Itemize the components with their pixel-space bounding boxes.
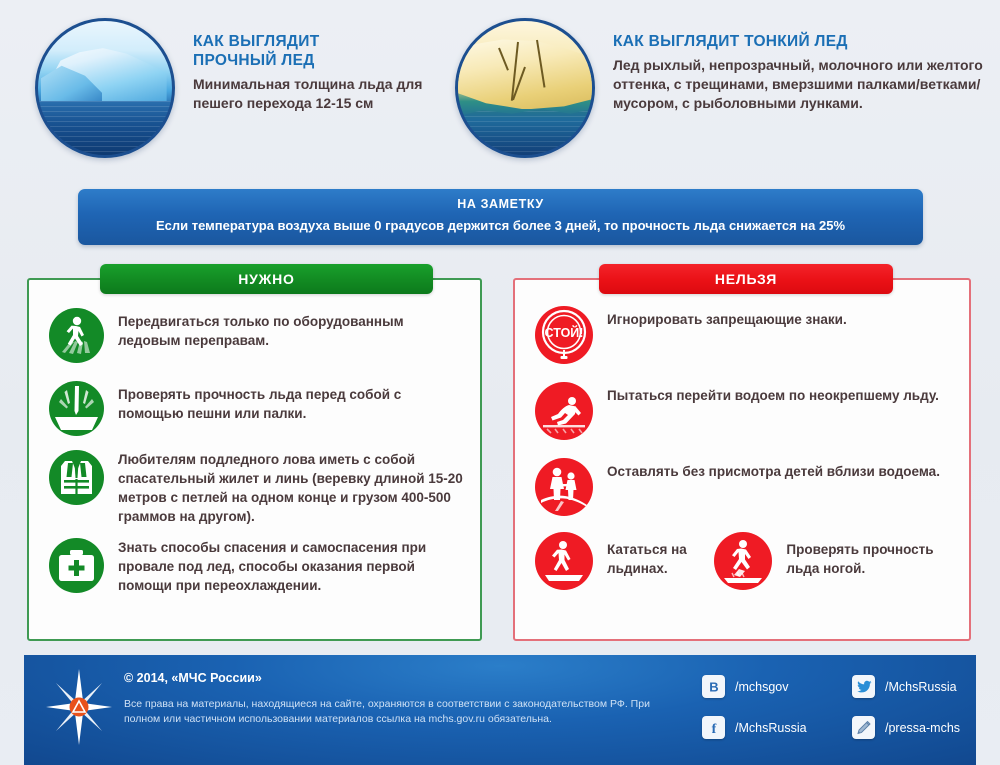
strong-ice-text: КАК ВЫГЛЯДИТ ПРОЧНЫЙ ЛЕД Минимальная тол…: [175, 18, 435, 113]
dont-item-1-text: Игнорировать запрещающие знаки.: [593, 306, 847, 329]
note-body-part2: , то прочность льда снижается на: [597, 218, 819, 233]
social-label-vk: /mchsgov: [725, 680, 789, 694]
do-item-1: Передвигаться только по оборудованным ле…: [49, 308, 466, 363]
do-item-2-text: Проверять прочность льда перед собой с п…: [104, 381, 466, 423]
dont-items-list: СТОЙ! Игнорировать запрещающие знаки.: [515, 280, 969, 590]
social-label-twitter: /MchsRussia: [875, 680, 957, 694]
social-link-facebook[interactable]: f /MchsRussia: [702, 716, 852, 739]
thin-ice-orb: [455, 18, 595, 158]
footer-copyright: © 2014, «МЧС России»: [124, 671, 664, 685]
strong-ice-description: Минимальная толщина льда для пешего пере…: [193, 75, 435, 113]
do-pill-label: НУЖНО: [100, 264, 433, 294]
social-link-vk[interactable]: B /mchsgov: [702, 675, 852, 698]
mchs-star-emblem: [44, 667, 114, 747]
note-body-bold2: 25%: [819, 218, 845, 233]
note-banner: НА ЗАМЕТКУ Если температура воздуха выше…: [78, 189, 923, 245]
note-body-part1: Если температура воздуха выше 0 градусов…: [156, 218, 513, 233]
dont-dual-item-2: Проверять прочность льда ногой.: [714, 532, 955, 590]
thin-ice-card: КАК ВЫГЛЯДИТ ТОНКИЙ ЛЕД Лед рыхлый, непр…: [455, 18, 985, 158]
first-aid-kit-icon: [49, 538, 104, 593]
dont-pill-label: НЕЛЬЗЯ: [599, 264, 893, 294]
dont-item-3-text: Оставлять без присмотра детей вблизи вод…: [593, 458, 940, 481]
ice-pick-icon: [49, 381, 104, 436]
do-item-4: Знать способы спасения и самоспасения пр…: [49, 538, 466, 595]
thin-ice-title: КАК ВЫГЛЯДИТ ТОНКИЙ ЛЕД: [613, 32, 985, 51]
stop-sign-icon: СТОЙ!: [535, 306, 593, 364]
thin-ice-text: КАК ВЫГЛЯДИТ ТОНКИЙ ЛЕД Лед рыхлый, непр…: [595, 18, 985, 113]
note-title: НА ЗАМЕТКУ: [78, 197, 923, 211]
note-body: Если температура воздуха выше 0 градусов…: [78, 217, 923, 234]
social-link-pressa[interactable]: /pressa-mchs: [852, 716, 976, 739]
dont-dual-item-2-text: Проверять прочность льда ногой.: [772, 532, 955, 578]
footer-text-block: © 2014, «МЧС России» Все права на матери…: [124, 671, 664, 727]
social-link-twitter[interactable]: /MchsRussia: [852, 675, 976, 698]
dont-panel: СТОЙ! Игнорировать запрещающие знаки.: [513, 278, 971, 641]
strong-ice-title-line2: ПРОЧНЫЙ ЛЕД: [193, 51, 435, 70]
dont-item-3: Оставлять без присмотра детей вблизи вод…: [535, 458, 955, 516]
thin-ice-description: Лед рыхлый, непрозрачный, молочного или …: [613, 56, 985, 113]
thin-ice-title-line1: КАК ВЫГЛЯДИТ ТОНКИЙ ЛЕД: [613, 32, 985, 51]
dont-dual-item-1-text: Кататься на льдинах.: [593, 532, 714, 578]
pencil-icon: [852, 716, 875, 739]
do-item-2: Проверять прочность льда перед собой с п…: [49, 381, 466, 436]
vk-icon: B: [702, 675, 725, 698]
do-item-1-text: Передвигаться только по оборудованным ле…: [104, 308, 466, 350]
footer: © 2014, «МЧС России» Все права на матери…: [24, 655, 976, 765]
do-items-list: Передвигаться только по оборудованным ле…: [29, 280, 480, 595]
person-falling-through-ice-icon: [535, 382, 593, 440]
stop-sign-text: СТОЙ!: [545, 325, 584, 340]
person-on-ice-floe-icon: [535, 532, 593, 590]
do-panel: Передвигаться только по оборудованным ле…: [27, 278, 482, 641]
life-vest-icon: [49, 450, 104, 505]
dont-dual-item-1: Кататься на льдинах.: [535, 532, 714, 590]
svg-text:f: f: [711, 722, 716, 736]
infographic-page: КАК ВЫГЛЯДИТ ПРОЧНЫЙ ЛЕД Минимальная тол…: [0, 0, 1000, 765]
strong-ice-title-line1: КАК ВЫГЛЯДИТ: [193, 32, 435, 51]
dont-dual-row: Кататься на льдинах.: [535, 532, 955, 590]
dont-item-1: СТОЙ! Игнорировать запрещающие знаки.: [535, 306, 955, 364]
children-unattended-icon: [535, 458, 593, 516]
twitter-icon: [852, 675, 875, 698]
social-label-pressa: /pressa-mchs: [875, 721, 960, 735]
top-section: КАК ВЫГЛЯДИТ ПРОЧНЫЙ ЛЕД Минимальная тол…: [0, 0, 1000, 178]
facebook-icon: f: [702, 716, 725, 739]
do-item-3-text: Любителям подледного лова иметь с собой …: [104, 450, 466, 526]
dont-item-2-text: Пытаться перейти водоем по неокрепшему л…: [593, 382, 939, 405]
strong-ice-title: КАК ВЫГЛЯДИТ ПРОЧНЫЙ ЛЕД: [193, 32, 435, 70]
do-item-4-text: Знать способы спасения и самоспасения пр…: [104, 538, 466, 595]
pedestrian-crossing-icon: [49, 308, 104, 363]
footer-legal: Все права на материалы, находящиеся на с…: [124, 697, 664, 727]
strong-ice-card: КАК ВЫГЛЯДИТ ПРОЧНЫЙ ЛЕД Минимальная тол…: [35, 18, 435, 158]
dont-item-2: Пытаться перейти водоем по неокрепшему л…: [535, 382, 955, 440]
do-item-3: Любителям подледного лова иметь с собой …: [49, 450, 466, 526]
social-label-facebook: /MchsRussia: [725, 721, 807, 735]
testing-ice-with-foot-icon: [714, 532, 772, 590]
svg-text:B: B: [709, 679, 718, 694]
footer-socials: B /mchsgov /MchsRussia f: [702, 675, 976, 739]
strong-ice-orb: [35, 18, 175, 158]
note-body-bold1: более 3 дней: [513, 218, 597, 233]
